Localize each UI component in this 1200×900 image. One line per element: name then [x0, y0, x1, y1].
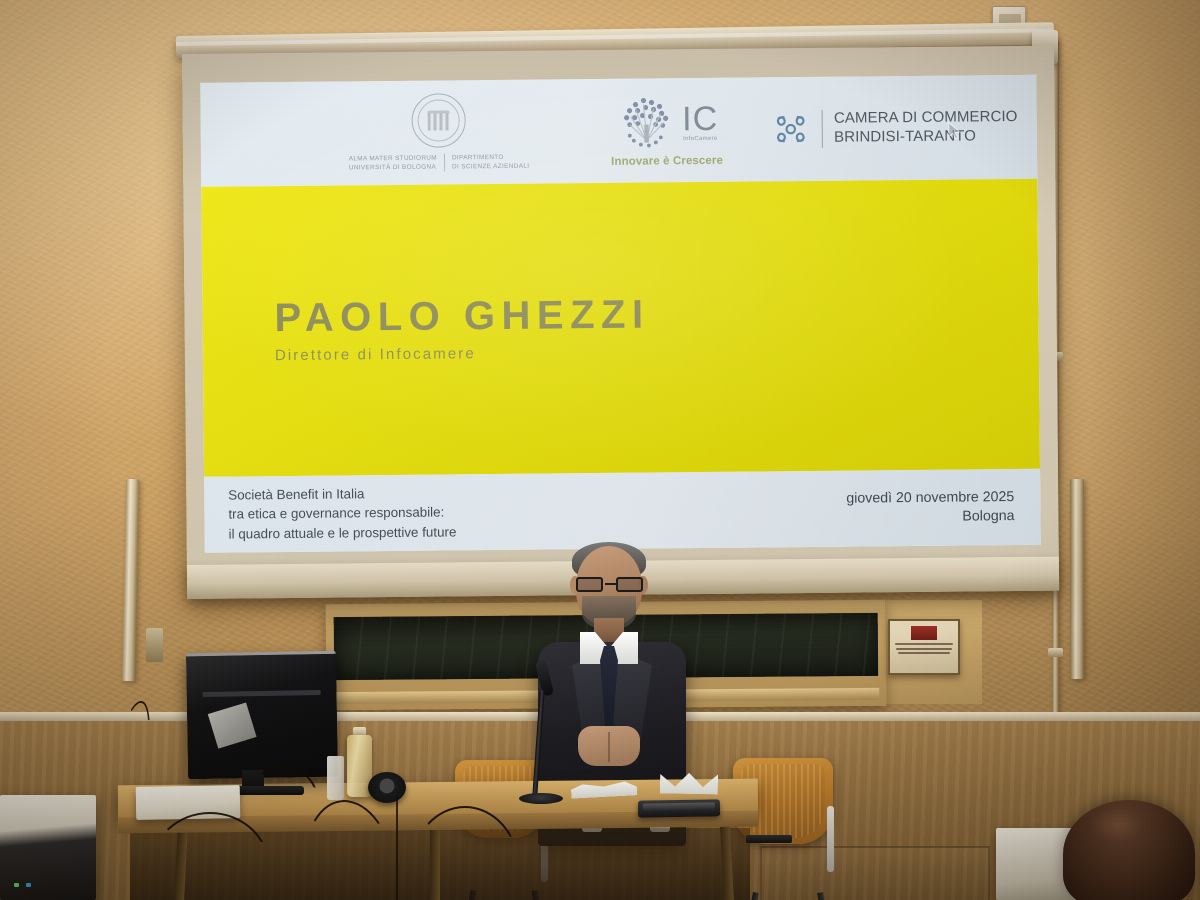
equipment-rack-post	[396, 796, 398, 900]
event-title: Società Benefit in Italia tra etica e go…	[228, 483, 456, 544]
lecture-hall-photo: ALMA MATER STUDIORUM UNIVERSITÀ DI BOLOG…	[0, 0, 1200, 900]
camera-commercio-text: CAMERA DI COMMERCIO BRINDISI-TARANTO	[834, 108, 1018, 147]
printer-led-icon	[14, 883, 19, 887]
slide-header: ALMA MATER STUDIORUM UNIVERSITÀ DI BOLOG…	[200, 75, 1037, 187]
ic-tree-icon	[615, 94, 678, 153]
logo-unibo: ALMA MATER STUDIORUM UNIVERSITÀ DI BOLOG…	[338, 92, 539, 172]
microphone-base	[519, 793, 563, 804]
logo-camera-commercio: CAMERA DI COMMERCIO BRINDISI-TARANTO	[771, 107, 1018, 149]
mouse-cursor-icon	[947, 122, 963, 142]
slide-footer: Società Benefit in Italia tra etica e go…	[204, 469, 1041, 553]
wall-panel	[760, 846, 990, 900]
event-title-line3: il quadro attuale e le prospettive futur…	[229, 522, 457, 544]
ic-subtext: InfoCamere	[683, 136, 717, 142]
clasped-hands	[578, 726, 640, 766]
speaker-role: Direttore di Infocamere	[275, 340, 1039, 364]
event-date-location: giovedì 20 novembre 2025 Bologna	[846, 488, 1014, 528]
speaker-name: PAOLO GHEZZI	[274, 291, 1038, 338]
chair-arm	[827, 806, 834, 872]
wall-bracket	[146, 628, 163, 662]
event-date: giovedì 20 novembre 2025	[846, 488, 1014, 509]
desk-monitor[interactable]	[186, 651, 338, 780]
conduit-clip	[1048, 648, 1063, 657]
plaque-text-lines	[894, 643, 954, 654]
printer	[0, 795, 96, 900]
wall-plaque	[888, 619, 960, 675]
monitor-vent	[203, 690, 321, 697]
audience-member	[1063, 800, 1195, 900]
projection-screen: ALMA MATER STUDIORUM UNIVERSITÀ DI BOLOG…	[182, 46, 1059, 599]
event-title-line2: tra etica e governance responsabile:	[228, 503, 456, 525]
monitor-label	[208, 702, 257, 748]
cam-line1: CAMERA DI COMMERCIO	[834, 108, 1018, 128]
camera-commercio-knot-icon	[771, 109, 811, 149]
logo-divider	[822, 110, 824, 148]
unibo-line2: UNIVERSITÀ DI BOLOGNA	[349, 163, 437, 173]
conference-speakerphone[interactable]	[368, 772, 406, 803]
unibo-wordmark: ALMA MATER STUDIORUM UNIVERSITÀ DI BOLOG…	[349, 153, 530, 173]
presenter-remote[interactable]	[746, 835, 792, 843]
glasses-icon	[575, 577, 644, 592]
printer-led-icon	[26, 883, 31, 887]
plaque-emblem-icon	[911, 626, 937, 640]
cam-line2: BRINDISI-TARANTO	[834, 127, 1018, 147]
presentation-slide: ALMA MATER STUDIORUM UNIVERSITÀ DI BOLOG…	[200, 75, 1040, 553]
ic-tagline: Innovare è Crescere	[611, 154, 723, 167]
paper-cup	[327, 756, 344, 800]
unibo-dept2: DI SCIENZE AZIENDALI	[452, 162, 529, 172]
wall-batten-right	[1070, 479, 1084, 679]
slide-body: PAOLO GHEZZI Direttore di Infocamere	[201, 179, 1040, 477]
event-city: Bologna	[846, 507, 1014, 528]
tablet-device[interactable]	[638, 799, 720, 817]
event-title-line1: Società Benefit in Italia	[228, 483, 456, 505]
logo-infocamere: IC InfoCamere Innovare è Crescere	[582, 93, 751, 168]
alma-mater-seal-icon	[411, 93, 466, 148]
ic-letters: IC	[682, 103, 718, 136]
